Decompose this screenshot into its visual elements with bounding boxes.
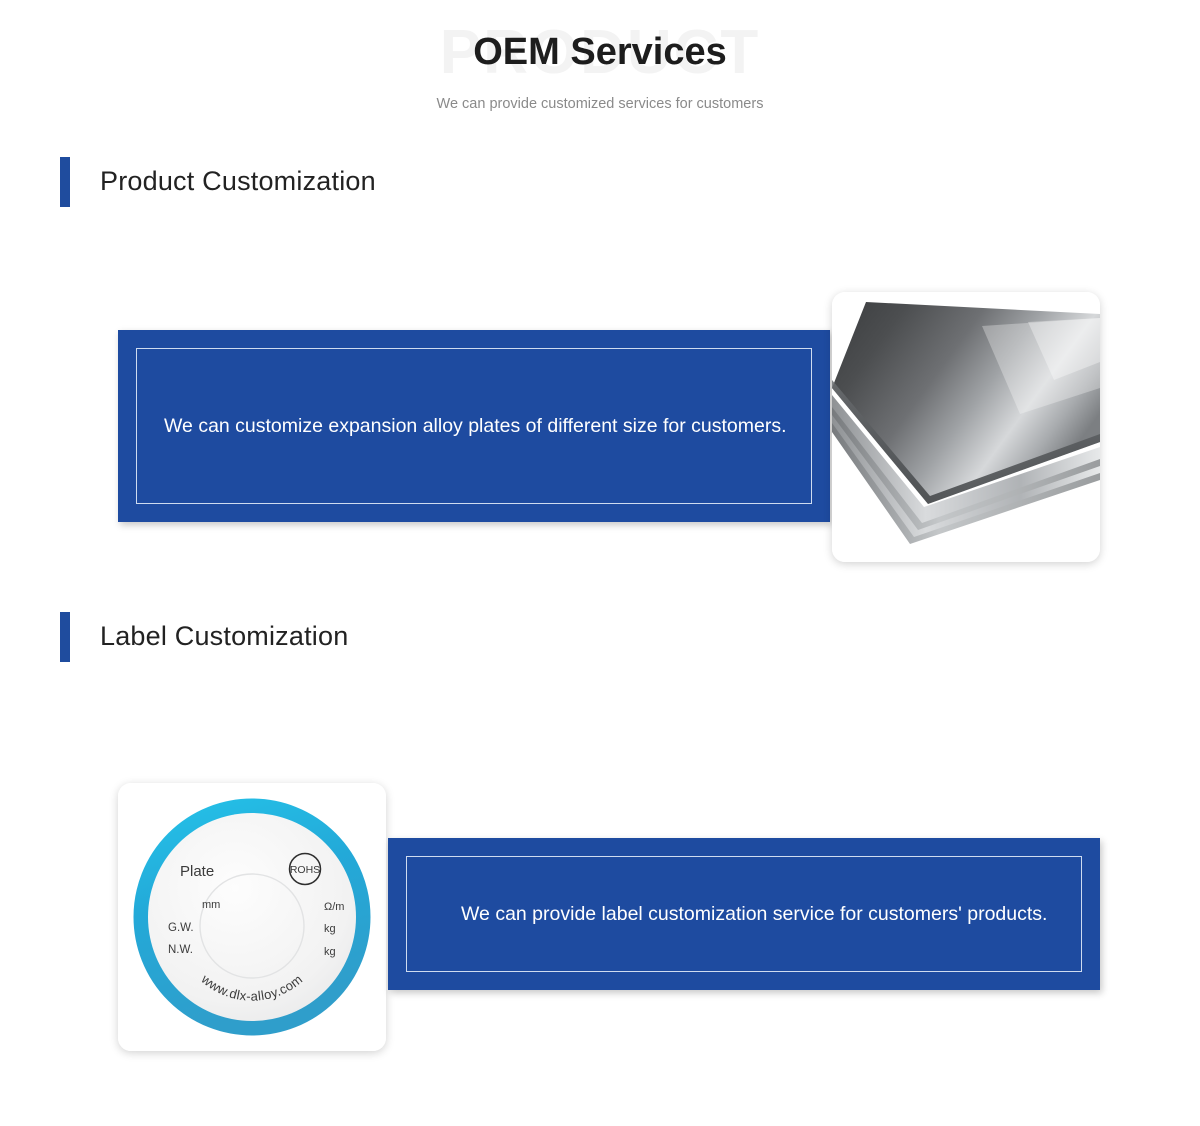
label-net-weight-unit: kg: [324, 946, 336, 958]
accent-bar-icon: [60, 612, 70, 662]
page-title: OEM Services: [0, 30, 1200, 76]
page-subtitle: We can provide customized services for c…: [0, 96, 1200, 112]
label-customization-panel: We can provide label customization servi…: [388, 838, 1100, 990]
accent-bar-icon: [60, 157, 70, 207]
label-customization-text: We can provide label customization servi…: [407, 896, 1071, 932]
label-unit-thickness: mm: [202, 899, 220, 911]
product-image-card: [832, 292, 1100, 562]
page-header: PRODUCT OEM Services We can provide cust…: [0, 0, 1200, 112]
product-customization-text: We can customize expansion alloy plates …: [137, 408, 811, 444]
round-label-image: Plate ROHS mm Ω/m G.W. kg N.W. kg www.dl…: [118, 783, 386, 1051]
label-unit-resistivity: Ω/m: [324, 901, 344, 913]
label-gross-weight-unit: kg: [324, 923, 336, 935]
section-title-label-customization: Label Customization: [100, 621, 348, 652]
label-net-weight: N.W.: [168, 944, 193, 956]
product-customization-panel: We can customize expansion alloy plates …: [118, 330, 830, 522]
label-gross-weight: G.W.: [168, 922, 194, 934]
section-heading-label-customization: Label Customization: [60, 612, 1200, 662]
alloy-plates-image: [832, 292, 1100, 562]
panel-inner-border: We can customize expansion alloy plates …: [136, 348, 812, 504]
panel-inner-border: We can provide label customization servi…: [406, 856, 1082, 972]
label-product-name: Plate: [180, 863, 214, 880]
section-title-product-customization: Product Customization: [100, 166, 376, 197]
section-heading-product-customization: Product Customization: [60, 157, 1200, 207]
label-image-card: Plate ROHS mm Ω/m G.W. kg N.W. kg www.dl…: [118, 783, 386, 1051]
svg-text:ROHS: ROHS: [290, 864, 320, 876]
